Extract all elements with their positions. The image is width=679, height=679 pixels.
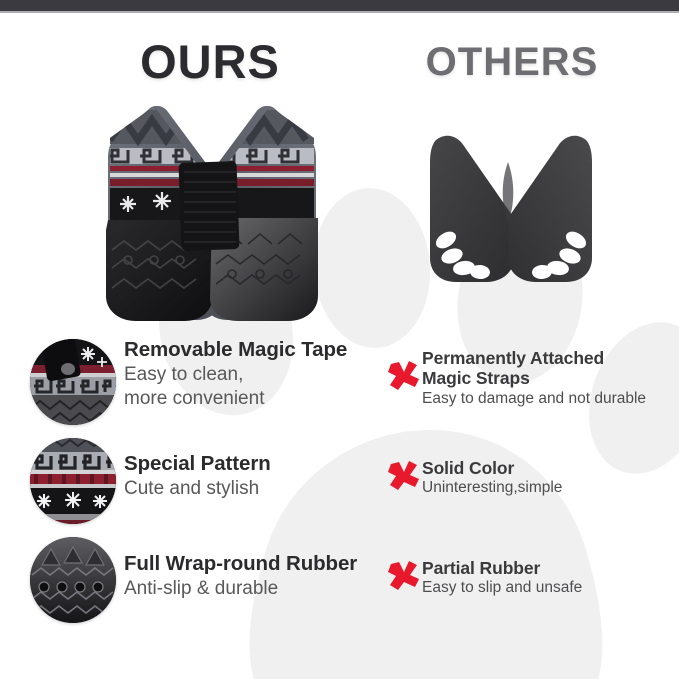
others-feature-title-line1: Partial Rubber <box>422 558 672 578</box>
feature-row: Special Pattern Cute and stylish Solid C… <box>0 432 679 532</box>
others-feature-text: Partial Rubber Easy to slip and unsafe <box>422 558 672 598</box>
red-x-icon <box>386 458 420 492</box>
ours-feature-sub-line2: more convenient <box>124 388 390 410</box>
ours-feature-text: Special Pattern Cute and stylish <box>124 452 390 500</box>
ours-feature-title: Special Pattern <box>124 452 390 476</box>
ours-feature-title: Removable Magic Tape <box>124 338 390 362</box>
others-feature-text: Solid Color Uninteresting,simple <box>422 458 672 498</box>
others-feature-sub: Uninteresting,simple <box>422 479 672 498</box>
others-feature-sub: Easy to damage and not durable <box>422 390 672 409</box>
others-feature-title-line2: Magic Straps <box>422 368 672 388</box>
feature-row: Full Wrap-round Rubber Anti-slip & durab… <box>0 532 679 632</box>
others-feature-title-line1: Solid Color <box>422 458 672 478</box>
others-feature-title-line1: Permanently Attached <box>422 348 672 368</box>
feature-rows: Removable Magic Tape Easy to clean, more… <box>0 0 679 679</box>
others-feature-sub: Easy to slip and unsafe <box>422 579 672 598</box>
thumbnail-knit-pattern <box>30 438 116 524</box>
red-x-icon <box>386 558 420 592</box>
ours-feature-sub-line1: Cute and stylish <box>124 478 390 500</box>
others-feature-text: Permanently Attached Magic Straps Easy t… <box>422 348 672 409</box>
thumbnail-magic-tape <box>30 339 116 425</box>
comparison-infographic: OURS OTHERS <box>0 0 679 679</box>
ours-feature-text: Removable Magic Tape Easy to clean, more… <box>124 338 390 410</box>
feature-row: Removable Magic Tape Easy to clean, more… <box>0 330 679 430</box>
ours-feature-text: Full Wrap-round Rubber Anti-slip & durab… <box>124 552 390 600</box>
ours-feature-sub-line1: Easy to clean, <box>124 364 390 386</box>
thumbnail-rubber-sole <box>30 537 116 623</box>
red-x-icon <box>386 358 420 392</box>
ours-feature-sub-line1: Anti-slip & durable <box>124 578 390 600</box>
ours-feature-title: Full Wrap-round Rubber <box>124 552 390 576</box>
